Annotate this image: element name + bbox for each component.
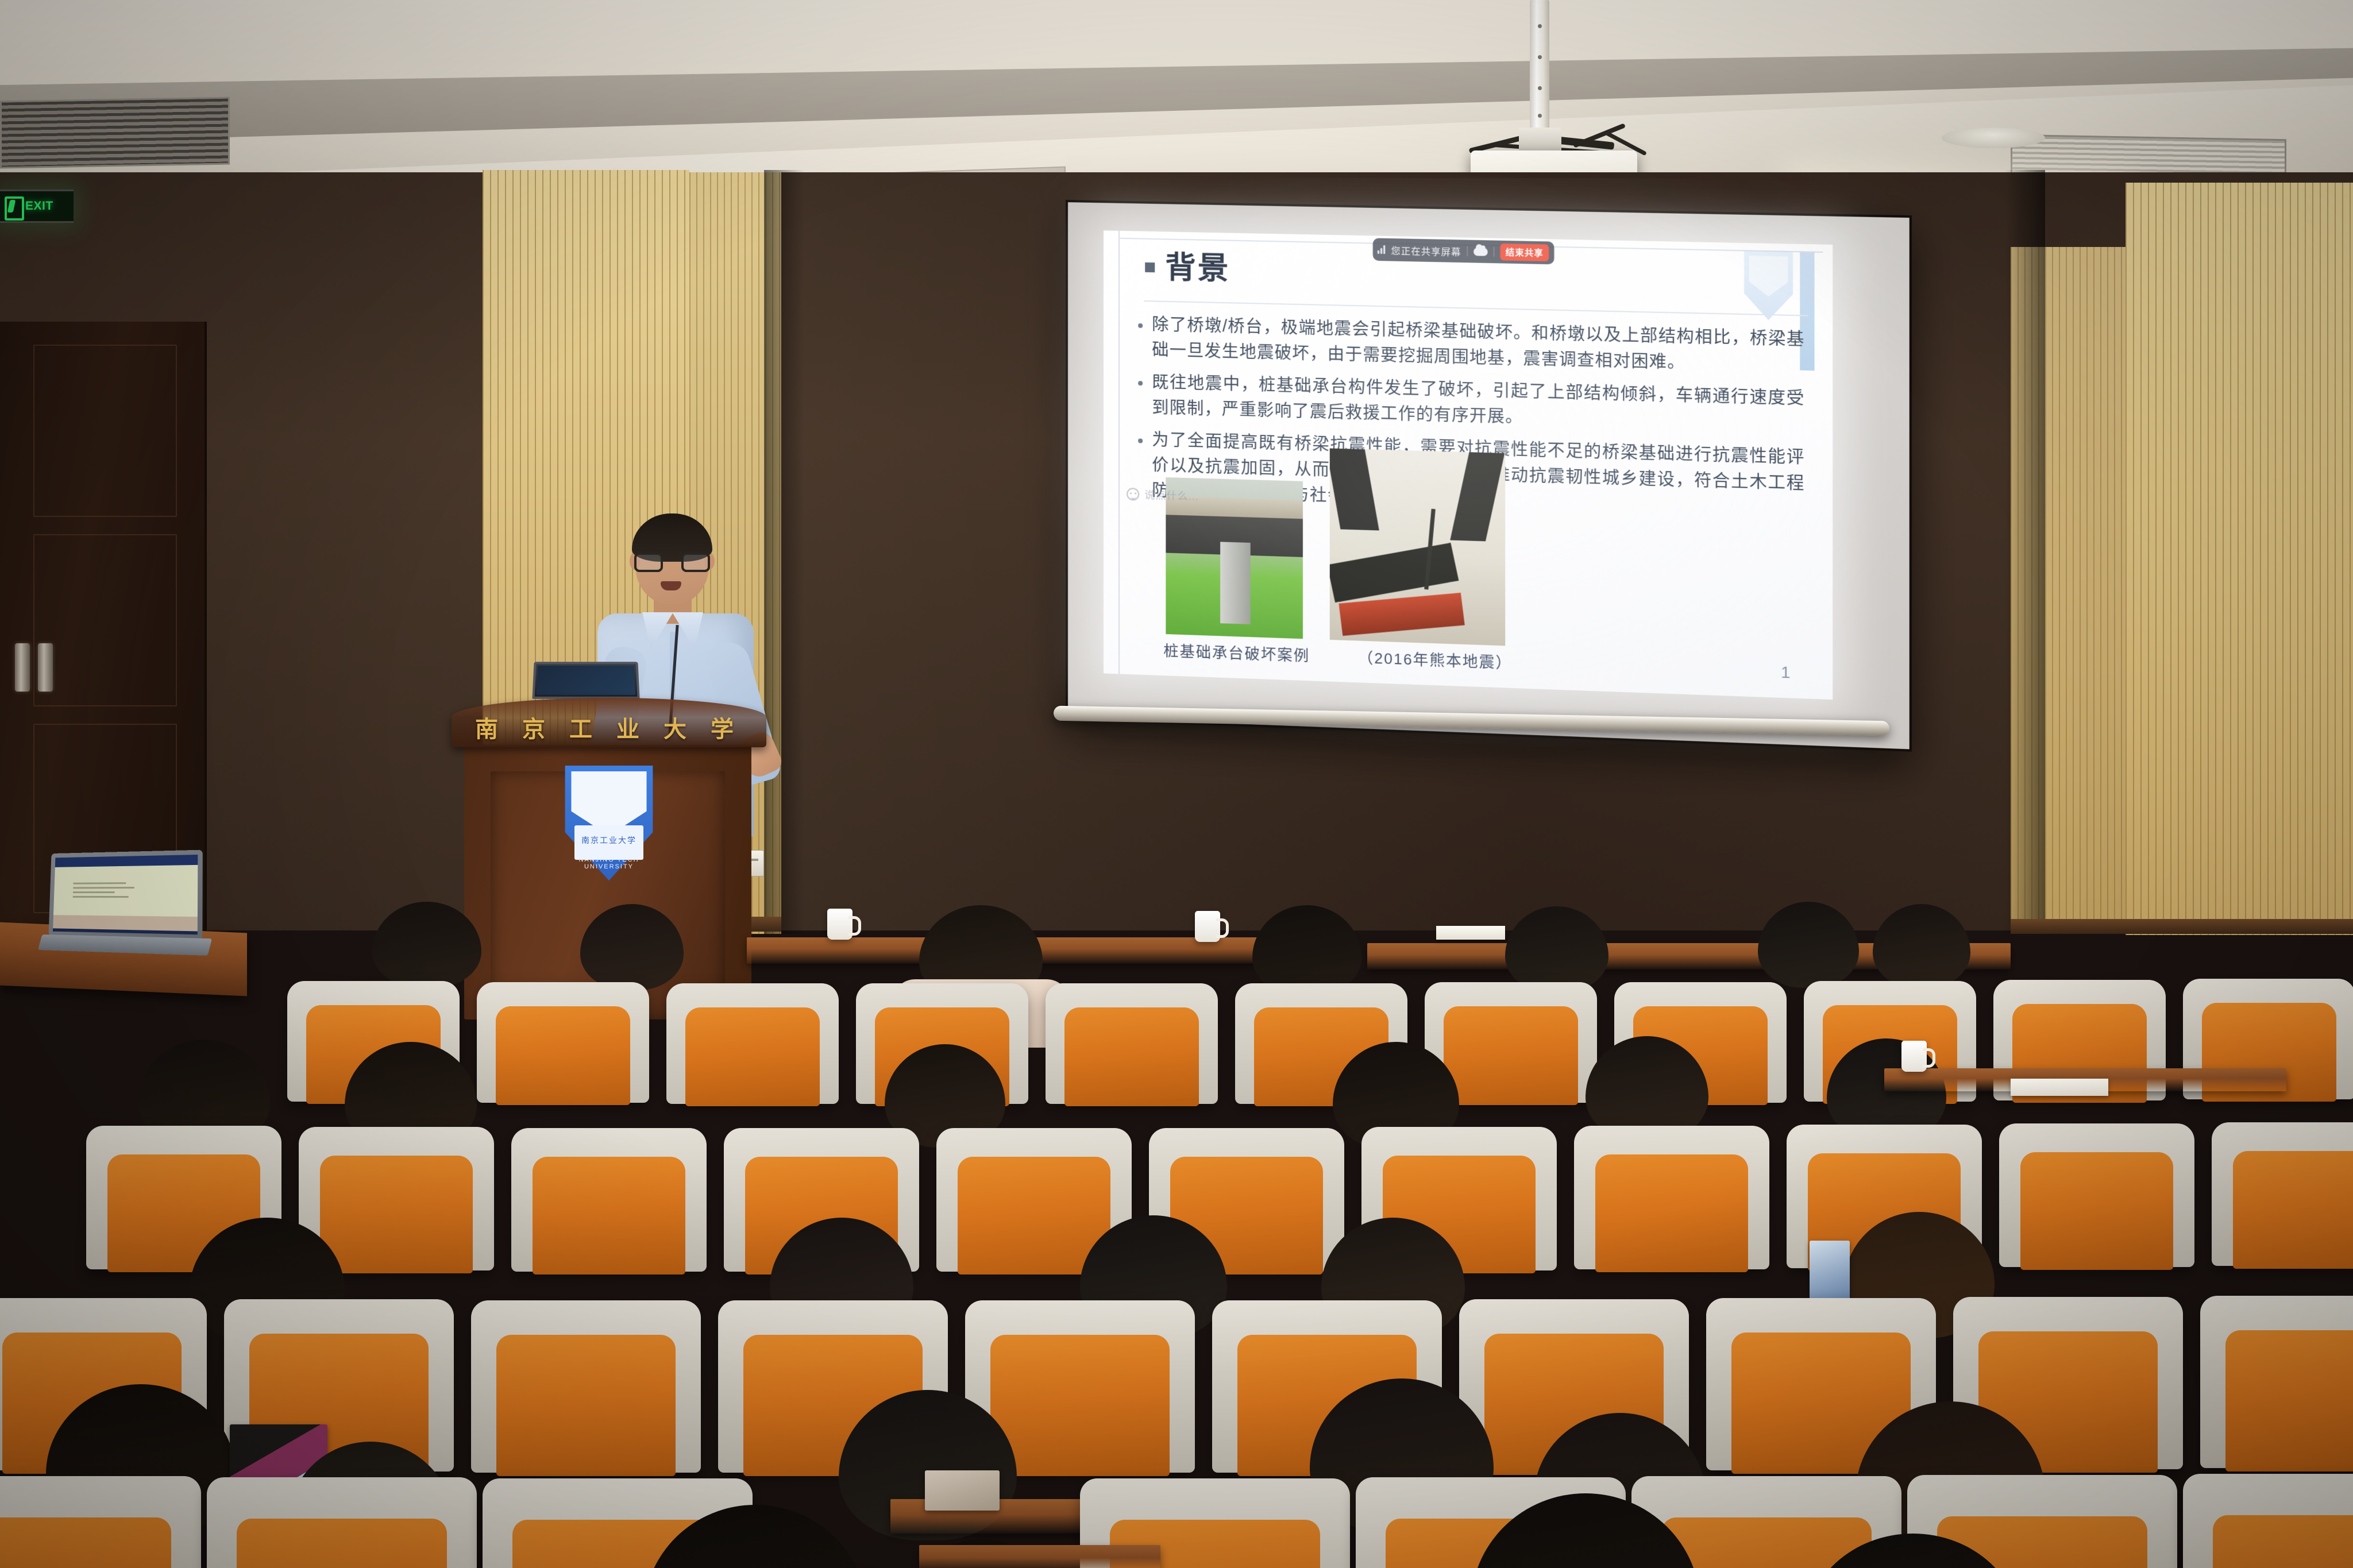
wall-shadow [764, 170, 804, 934]
seat[interactable] [1999, 1123, 2194, 1267]
ceiling-dome-light [1942, 128, 2045, 148]
cup[interactable] [1195, 911, 1220, 942]
seat[interactable] [2183, 1474, 2353, 1568]
slide-captions: 桩基础承台破坏案例 （2016年熊本地震） 1 [1163, 639, 1790, 683]
seat[interactable] [1574, 1126, 1769, 1269]
banner-divider [1494, 247, 1494, 257]
lectern-laptop[interactable] [532, 662, 639, 699]
audience-member [1804, 1534, 2022, 1568]
square-bullet-icon [1145, 262, 1155, 272]
phone-device[interactable] [925, 1470, 1000, 1511]
slide-left-rule [1118, 231, 1120, 674]
seat[interactable] [1046, 983, 1218, 1104]
crest-en-label: NANJING TECH UNIVERSITY [561, 856, 657, 870]
bullet-dot-icon [1138, 439, 1143, 443]
banner-divider [1467, 246, 1468, 256]
share-status-text: 您正在共享屏幕 [1391, 243, 1461, 258]
paper-sheet[interactable] [1436, 926, 1505, 940]
audience-member [643, 1505, 867, 1568]
audience-member [580, 904, 684, 990]
university-crest-watermark-icon [1741, 250, 1796, 320]
audience-member [1252, 905, 1361, 996]
kumamoto-earthquake-photo [1330, 449, 1505, 646]
chat-input-placeholder: 说点什么... [1144, 487, 1199, 504]
slide-bullet-text: 除了桥墩/桥台，极端地震会引起桥梁基础破坏。和桥墩以及上部结构相比，桥梁基础一旦… [1152, 312, 1804, 379]
audience-member [1873, 904, 1970, 988]
projector-mount-pole [1530, 0, 1549, 136]
lectern-laptop-screen [537, 666, 635, 695]
slide-bullet-text: 既往地震中，桩基础承台构件发生了破坏，引起了上部结构倾斜，车辆通行速度受到限制，… [1152, 370, 1804, 438]
bullet-dot-icon [1138, 381, 1143, 385]
university-crest-icon: 1902 南京工业大学 NANJING TECH UNIVERSITY [561, 766, 657, 880]
figure-caption-left: 桩基础承台破坏案例 [1163, 639, 1310, 666]
signal-bars-icon [1378, 245, 1385, 254]
audience-member [1758, 902, 1859, 988]
slide-figures [1166, 444, 1505, 646]
figure-caption-right: （2016年熊本地震） [1358, 646, 1513, 673]
slide-bullet: 既往地震中，桩基础承台构件发生了破坏，引起了上部结构倾斜，车辆通行速度受到限制，… [1138, 369, 1805, 438]
presenter-mouth [661, 581, 681, 590]
seat[interactable] [2200, 1296, 2353, 1468]
exit-sign: EXIT [0, 190, 74, 223]
audience-member [372, 902, 481, 988]
audience-member [1505, 906, 1608, 992]
chat-input-hint[interactable]: 说点什么... [1127, 486, 1199, 504]
presentation-slide: 背景 除了桥墩/桥台，极端地震会引起桥梁基础破坏。和桥墩以及上部结构相比，桥梁基… [1104, 230, 1833, 700]
slide-title-row: 背景 [1145, 252, 1230, 284]
audience-member [1471, 1493, 1700, 1568]
paper-sheet[interactable] [2011, 1079, 2108, 1096]
door-panel [33, 534, 177, 706]
hvac-vent-icon [0, 97, 230, 169]
crest-cn-label: 南京工业大学 [561, 835, 657, 846]
slide-title: 背景 [1165, 253, 1230, 285]
cup[interactable] [827, 909, 853, 940]
screen-share-banner[interactable]: 您正在共享屏幕 结束共享 [1373, 238, 1554, 264]
seat[interactable] [666, 983, 839, 1104]
slide-bullet: 除了桥墩/桥台，极端地震会引起桥梁基础破坏。和桥墩以及上部结构相比，桥梁基础一旦… [1138, 312, 1805, 379]
cup[interactable] [1901, 1041, 1927, 1072]
seat[interactable] [471, 1300, 701, 1473]
door-handle[interactable] [38, 643, 53, 692]
seat[interactable] [0, 1476, 201, 1568]
seat[interactable] [207, 1477, 477, 1568]
wood-slat-wall-right [2126, 183, 2353, 935]
audience-seating [0, 896, 2353, 1568]
door-handle[interactable] [15, 643, 30, 692]
glasses-icon [634, 553, 710, 572]
lecture-hall-photo: EPSON EXIT 背景 [0, 0, 2353, 1568]
seat[interactable] [511, 1128, 707, 1272]
lectern-top: 南 京 工 业 大 学 [452, 698, 766, 747]
exit-door[interactable] [0, 322, 207, 942]
smiley-icon[interactable] [1127, 488, 1139, 501]
bullet-dot-icon [1138, 323, 1143, 328]
door-panel [33, 345, 177, 517]
lectern-institution-label: 南 京 工 业 大 学 [452, 710, 766, 744]
seat[interactable] [2212, 1122, 2353, 1266]
seat[interactable] [477, 982, 649, 1103]
desk-row [919, 1545, 1160, 1568]
running-man-icon [2, 195, 22, 217]
projection-screen: 背景 除了桥墩/桥台，极端地震会引起桥梁基础破坏。和桥墩以及上部结构相比，桥梁基… [1066, 200, 1912, 752]
wall-shadow [2005, 170, 2045, 934]
exit-sign-label: EXIT [25, 199, 53, 213]
end-share-button[interactable]: 结束共享 [1500, 244, 1549, 261]
slide-page-number: 1 [1781, 663, 1790, 682]
cloud-icon[interactable] [1473, 248, 1488, 256]
